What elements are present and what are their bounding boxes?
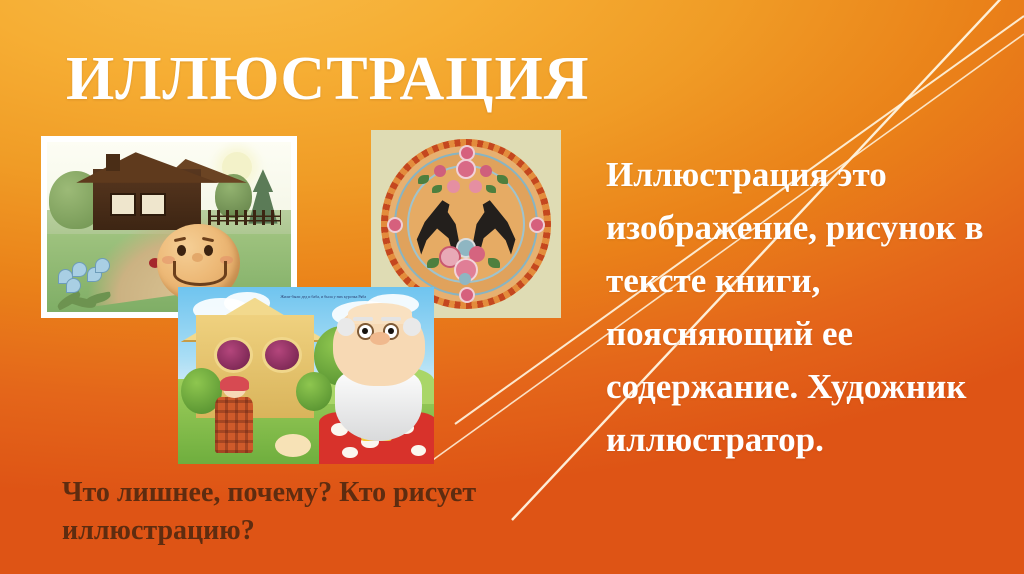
grandpa-figure <box>319 305 434 464</box>
image-ryaba-book-cover: Жили-были дед и баба, и была у них куроч… <box>178 287 434 464</box>
presentation-slide: Жили-были дед и баба, и была у них куроч… <box>0 0 1024 574</box>
book-cover-text: Жили-были дед и баба, и была у них куроч… <box>280 294 408 300</box>
definition-text: Иллюстрация это изображение, рисунок в т… <box>606 148 1006 466</box>
granny-figure <box>214 379 255 453</box>
question-text: Что лишнее, почему? Кто рисует иллюстрац… <box>62 474 532 550</box>
page-title: ИЛЛЮСТРАЦИЯ <box>66 48 590 110</box>
